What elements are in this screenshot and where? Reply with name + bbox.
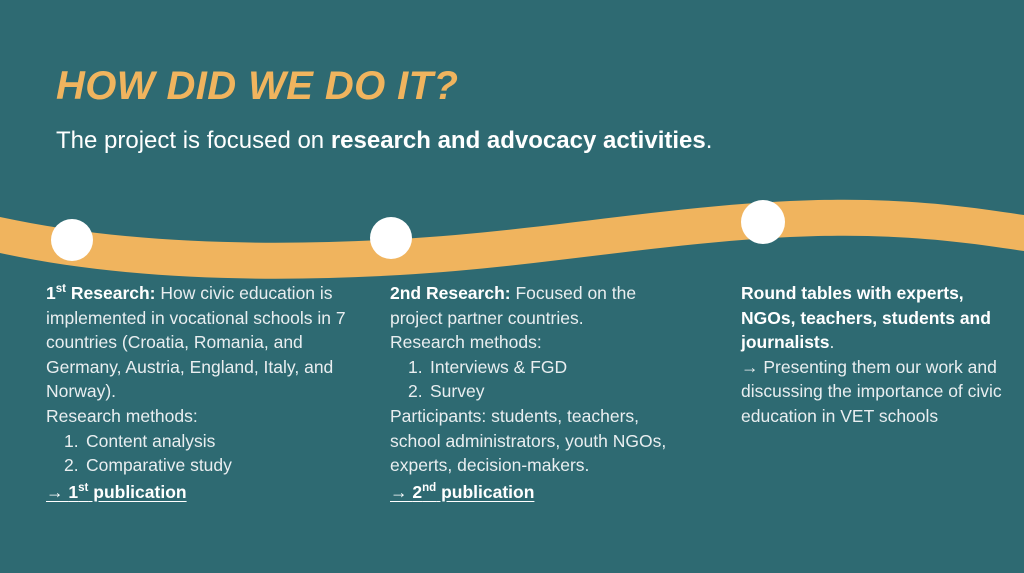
round-tables-heading-suffix: . <box>830 332 835 352</box>
list-marker: 1. <box>408 355 423 380</box>
timeline-band <box>0 185 1024 285</box>
first-methods-list: 1.Content analysis 2.Comparative study <box>46 429 348 478</box>
list-item: 2.Survey <box>390 379 682 404</box>
page-title: HOW DID WE DO IT? <box>56 62 956 110</box>
list-item-label: Comparative study <box>64 453 232 478</box>
slide-header: HOW DID WE DO IT? The project is focused… <box>56 62 956 156</box>
column-round-tables: Round tables with experts, NGOs, teacher… <box>741 281 1003 429</box>
first-research-paragraph: 1st Research: How civic education is imp… <box>46 281 348 404</box>
slide-canvas: HOW DID WE DO IT? The project is focused… <box>0 0 1024 573</box>
arrow-icon: → <box>390 482 412 502</box>
first-publication-link[interactable]: → 1st publication <box>46 480 187 505</box>
subtitle-suffix: . <box>706 127 713 154</box>
second-participants: Participants: students, teachers, school… <box>390 404 682 478</box>
second-methods-list: 1.Interviews & FGD 2.Survey <box>390 355 682 404</box>
list-marker: 2. <box>64 453 79 478</box>
first-research-lead: 1st Research: <box>46 283 156 303</box>
list-marker: 2. <box>408 379 423 404</box>
list-item-label: Interviews & FGD <box>408 355 567 380</box>
timeline-node-3[interactable] <box>741 200 785 244</box>
second-research-lead: 2nd Research: <box>390 283 511 303</box>
arrow-icon: → <box>46 482 68 502</box>
list-item: 2.Comparative study <box>46 453 348 478</box>
wave-band-shape <box>0 185 1024 285</box>
second-link-sup: nd <box>422 482 436 494</box>
list-item: 1.Content analysis <box>46 429 348 454</box>
round-tables-heading: Round tables with experts, NGOs, teacher… <box>741 281 1003 355</box>
timeline-node-2[interactable] <box>370 217 412 259</box>
round-tables-description: → Presenting them our work and discussin… <box>741 355 1003 429</box>
list-item: 1.Interviews & FGD <box>390 355 682 380</box>
column-second-research: 2nd Research: Focused on the project par… <box>390 281 682 504</box>
list-marker: 1. <box>64 429 79 454</box>
first-methods-label: Research methods: <box>46 404 348 429</box>
list-item-label: Content analysis <box>64 429 215 454</box>
second-research-paragraph: 2nd Research: Focused on the project par… <box>390 281 682 330</box>
subtitle-emphasis: research and advocacy activities <box>331 127 706 154</box>
second-methods-label: Research methods: <box>390 330 682 355</box>
timeline-node-1[interactable] <box>51 219 93 261</box>
first-research-lead-sup: st <box>56 283 66 295</box>
first-link-sup: st <box>78 482 88 494</box>
second-publication-link[interactable]: → 2nd publication <box>390 480 534 505</box>
round-tables-heading-bold: Round tables with experts, NGOs, teacher… <box>741 283 991 352</box>
slide-subtitle: The project is focused on research and a… <box>56 110 956 156</box>
subtitle-prefix: The project is focused on <box>56 127 331 154</box>
column-first-research: 1st Research: How civic education is imp… <box>46 281 348 504</box>
